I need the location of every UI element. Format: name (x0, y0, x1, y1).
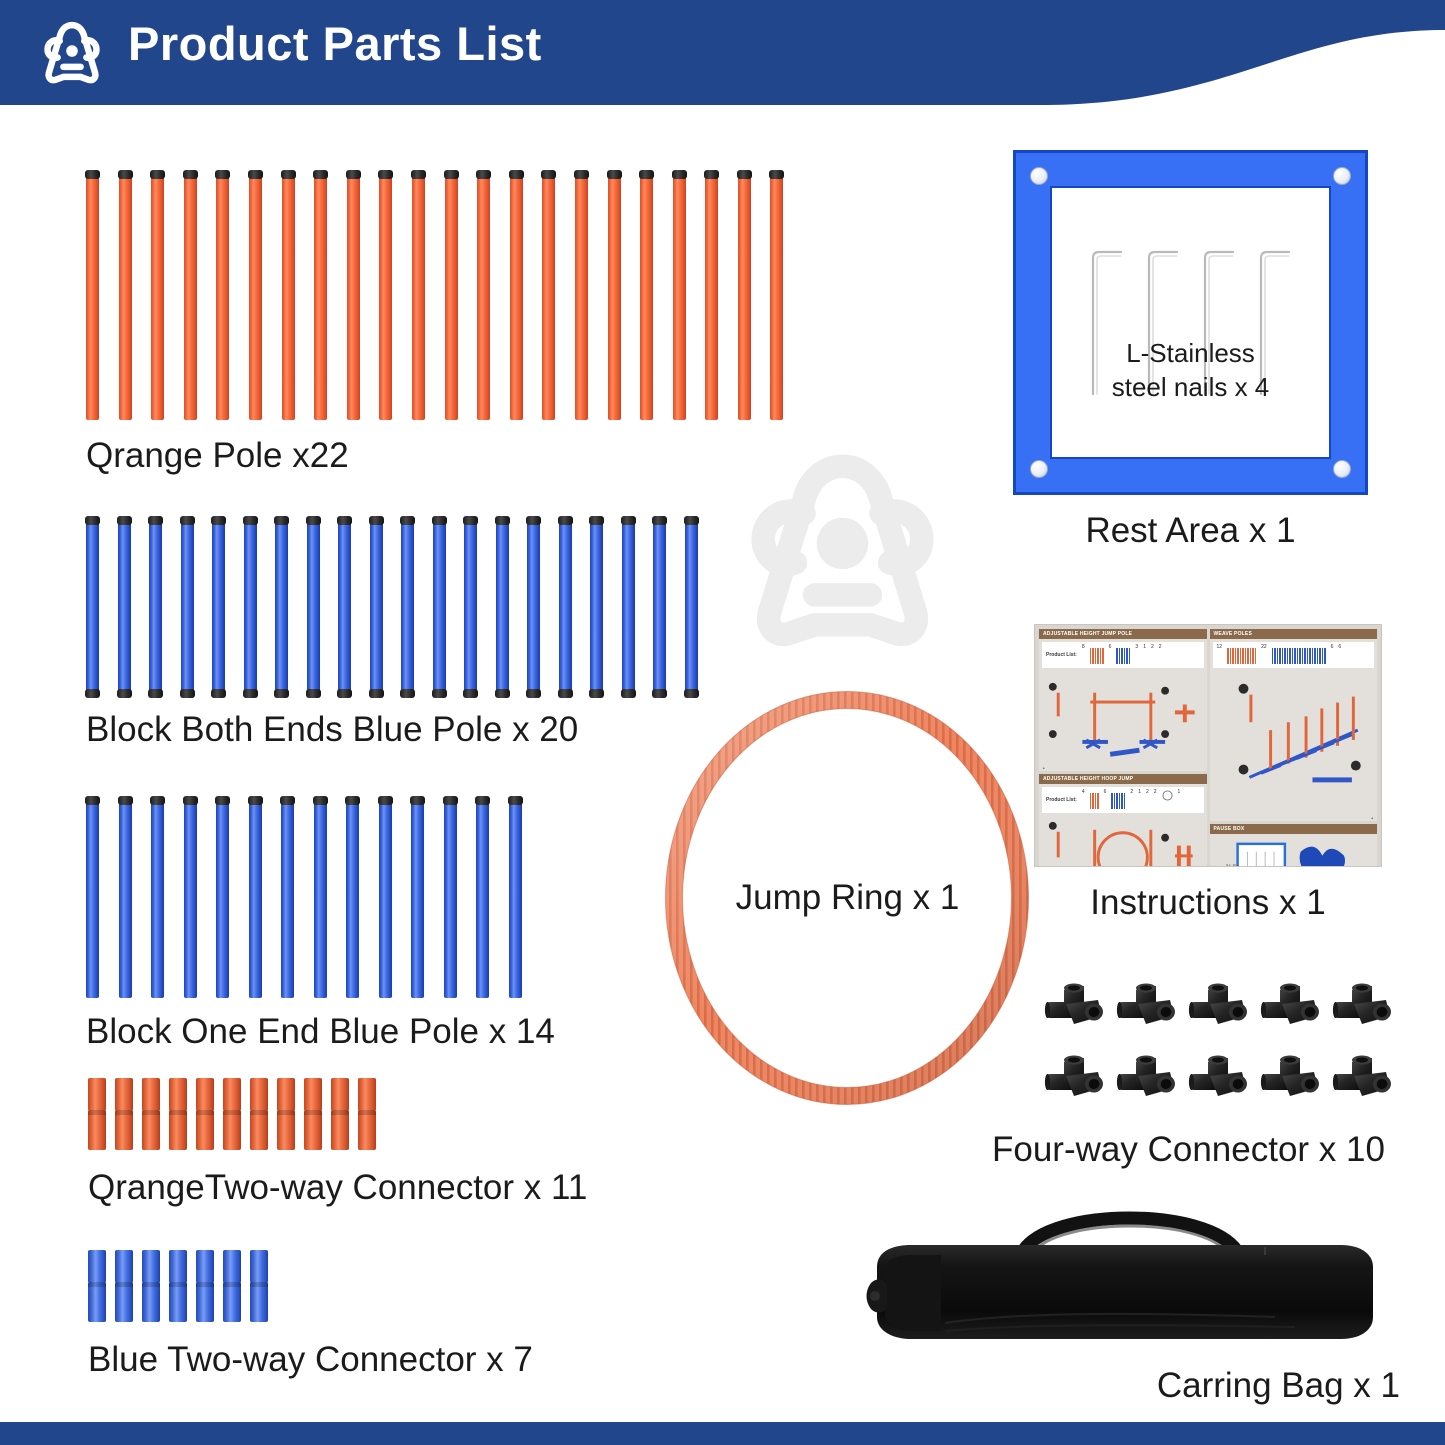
instruction-sheet: ADJUSTABLE HEIGHT JUMP POLE Product List… (1034, 624, 1382, 867)
pole-body (476, 798, 489, 998)
pole-cap-top (378, 170, 393, 179)
pole-body (575, 172, 588, 420)
pole-body (608, 172, 621, 420)
blue-two-way-connector-item (169, 1250, 187, 1322)
pole-cap-top (589, 516, 604, 525)
pole-cap-top (444, 170, 459, 179)
connector-seg-bot (169, 1287, 187, 1322)
sheet-footer-logo-1: ▲ (1042, 766, 1045, 770)
connector-seg-bot (196, 1287, 214, 1322)
pole-body (181, 518, 194, 696)
pole-body (184, 172, 197, 420)
pole-body (622, 518, 635, 696)
product-list-label-1: Product List: (1046, 652, 1077, 658)
pole-cap-top (346, 170, 361, 179)
connector-seg-top (277, 1078, 295, 1111)
connector-seg-top (115, 1250, 133, 1283)
pole-body (590, 518, 603, 696)
block-both-ends-blue-pole-item (244, 518, 257, 696)
pole-cap-bottom (306, 689, 321, 698)
pole-cap-top (150, 170, 165, 179)
mini-blue-bundle-3 (1272, 646, 1326, 664)
mini-blue-bundle-2 (1111, 791, 1125, 809)
part-group-blue-two-way-connector: Blue Two-way Connector x 7 (88, 1250, 533, 1380)
pole-cap-top (621, 516, 636, 525)
pole-cap-bottom (243, 689, 258, 698)
pole-cap-bottom (558, 689, 573, 698)
part-group-orange-two-way-connector: QrangeTwo-way Connector x 11 (88, 1078, 587, 1208)
pole-cap-top (274, 516, 289, 525)
pole-cap-top (769, 170, 784, 179)
pole-cap-top (432, 516, 447, 525)
pole-cap-top (148, 516, 163, 525)
pole-cap-top (211, 516, 226, 525)
connector-seg-top (142, 1250, 160, 1283)
sheet-right-column: WEAVE POLES 12 22 (1210, 629, 1378, 867)
pole-cap-top (306, 516, 321, 525)
orange-pole-item (770, 172, 783, 420)
pole-cap-top (215, 796, 230, 805)
pole-body (249, 798, 262, 998)
part-group-carrying-bag: Carring Bag x 1 (855, 1205, 1400, 1406)
orange-pole-item (705, 172, 718, 420)
part-group-jump-ring: Jump Ring x 1 (655, 688, 1040, 1108)
orange-two-way-connector-item (115, 1078, 133, 1150)
orange-pole-item (575, 172, 588, 420)
pole-cap-bottom (432, 689, 447, 698)
pole-cap-top (215, 170, 230, 179)
pole-body (86, 518, 99, 696)
connector-seg-bot (115, 1287, 133, 1322)
pole-cap-top (509, 170, 524, 179)
four-way-connector-item (1188, 1052, 1250, 1110)
orange-pole-item (412, 172, 425, 420)
mat-inner-panel: L-Stainless steel nails x 4 (1050, 186, 1331, 459)
orange-pole-item (119, 172, 132, 420)
orange-pole-item (738, 172, 751, 420)
mini-orange-bundle-3 (1227, 646, 1256, 664)
blue-two-way-connector-item (115, 1250, 133, 1322)
block-one-end-blue-pole-item (476, 798, 489, 998)
block-one-end-blue-pole-item (184, 798, 197, 998)
block-one-end-blue-pole-item (281, 798, 294, 998)
pole-body (509, 798, 522, 998)
pole-cap-top (369, 516, 384, 525)
four-way-connector-item (1116, 980, 1178, 1038)
page-header: Product Parts List (0, 0, 1445, 105)
pole-body (346, 798, 359, 998)
pole-body (216, 798, 229, 998)
block-both-ends-blue-pole-item (464, 518, 477, 696)
pole-cap-top (652, 516, 667, 525)
connector-seg-top (250, 1250, 268, 1283)
connector-seg-bot (223, 1115, 241, 1150)
orange-pole-item (249, 172, 262, 420)
connector-seg-bot (88, 1115, 106, 1150)
blue-two-way-connector-item (142, 1250, 160, 1322)
part-group-instructions: ADJUSTABLE HEIGHT JUMP POLE Product List… (1034, 624, 1382, 923)
pole-body (527, 518, 540, 696)
orange-pole-item (673, 172, 686, 420)
part-group-four-way-connector: Four-way Connector x 10 (1044, 980, 1394, 1170)
sheet-panel-jump-pole: ADJUSTABLE HEIGHT JUMP POLE Product List… (1039, 629, 1207, 771)
orange-pole-item (86, 172, 99, 420)
hoop-jump-diagram (1039, 816, 1207, 867)
block-one-end-blue-pole-item (216, 798, 229, 998)
pole-body (738, 172, 751, 420)
orange-two-way-connector-item (196, 1078, 214, 1150)
part-group-block-both-ends-blue-pole: Block Both Ends Blue Pole x 20 (86, 518, 698, 750)
connector-seg-top (169, 1078, 187, 1111)
qty-1-1: 8 (1082, 644, 1085, 650)
qty-2-4: 1 (1138, 789, 1141, 795)
pole-cap-top (737, 170, 752, 179)
pole-cap-top (411, 170, 426, 179)
qty-3-3: 6 (1331, 644, 1334, 650)
connector-seg-bot (142, 1115, 160, 1150)
pole-body (496, 518, 509, 696)
mat-inner-caption: L-Stainless steel nails x 4 (1052, 337, 1329, 405)
block-both-ends-blue-pole-item (275, 518, 288, 696)
rest-area-mat: L-Stainless steel nails x 4 (1013, 150, 1368, 495)
connector-seg-bot (169, 1115, 187, 1150)
orange-pole-item (347, 172, 360, 420)
pole-body (379, 172, 392, 420)
block-both-ends-blue-pole-item (86, 518, 99, 696)
connector-seg-bot (358, 1115, 376, 1150)
panel-diagram-weave-poles (1210, 671, 1378, 802)
product-list-label-2: Product List: (1046, 797, 1077, 803)
footer-bar (0, 1422, 1445, 1445)
pole-cap-bottom (463, 689, 478, 698)
pole-cap-top (313, 796, 328, 805)
carrying-bag-label: Carring Bag x 1 (855, 1366, 1400, 1406)
svg-text:31.5in: 31.5in (1225, 863, 1239, 867)
pole-cap-bottom (337, 689, 352, 698)
four-way-connector-item (1188, 980, 1250, 1038)
pole-body (216, 172, 229, 420)
pole-body (433, 518, 446, 696)
pole-cap-top (243, 516, 258, 525)
block-both-ends-blue-pole-item (653, 518, 666, 696)
block-one-end-blue-pole-item (151, 798, 164, 998)
orange-two-way-connector-item (277, 1078, 295, 1150)
sheet-left-column: ADJUSTABLE HEIGHT JUMP POLE Product List… (1039, 629, 1207, 867)
part-group-orange-pole: Qrange Pole x22 (86, 172, 783, 476)
orange-pole-label: Qrange Pole x22 (86, 436, 783, 476)
pole-cap-top (639, 170, 654, 179)
connector-seg-top (304, 1078, 322, 1111)
connector-seg-top (223, 1250, 241, 1283)
orange-pole-row (86, 172, 783, 420)
block-both-ends-blue-pole-item (559, 518, 572, 696)
block-both-ends-blue-pole-item (307, 518, 320, 696)
connector-seg-top (169, 1250, 187, 1283)
blue-two-way-connector-item (223, 1250, 241, 1322)
mini-hoop-icon (1162, 790, 1173, 801)
connector-seg-bot (250, 1115, 268, 1150)
pole-cap-top (150, 796, 165, 805)
qty-2-6: 2 (1154, 789, 1157, 795)
pole-body (653, 518, 666, 696)
sheet-panel-hoop-jump: ADJUSTABLE HEIGHT HOOP JUMP Product List… (1039, 774, 1207, 867)
connector-seg-bot (304, 1115, 322, 1150)
block-one-end-blue-pole-item (444, 798, 457, 998)
mini-blue-bundle-1 (1116, 646, 1130, 664)
part-group-rest-area: L-Stainless steel nails x 4 Rest Area x … (1013, 150, 1368, 551)
pole-cap-top (337, 516, 352, 525)
block-one-end-blue-pole-item (119, 798, 132, 998)
connector-seg-bot (115, 1115, 133, 1150)
four-way-connector-item (1332, 980, 1394, 1038)
pole-body (314, 798, 327, 998)
orange-two-way-connector-row (88, 1078, 587, 1150)
orange-two-way-connector-item (169, 1078, 187, 1150)
four-way-connector-item (1260, 980, 1322, 1038)
block-both-ends-blue-pole-row (86, 518, 698, 696)
pole-cap-top (541, 170, 556, 179)
connector-seg-top (223, 1078, 241, 1111)
pole-cap-top (248, 796, 263, 805)
pole-body (118, 518, 131, 696)
mini-orange-bundle-1 (1090, 646, 1104, 664)
pole-cap-top (183, 170, 198, 179)
orange-pole-item (542, 172, 555, 420)
pole-body (119, 172, 132, 420)
connector-seg-top (142, 1078, 160, 1111)
orange-pole-item (608, 172, 621, 420)
block-both-ends-blue-pole-item (622, 518, 635, 696)
connector-seg-top (331, 1078, 349, 1111)
pole-cap-top (508, 796, 523, 805)
pause-box-diagram: 31.5in 31.5in (1210, 834, 1378, 867)
panel-diagram-hoop-jump (1039, 816, 1207, 867)
pole-cap-top (118, 796, 133, 805)
orange-pole-item (445, 172, 458, 420)
four-way-connector-item (1116, 1052, 1178, 1110)
carrying-bag-icon (855, 1205, 1400, 1355)
pole-cap-top (526, 516, 541, 525)
pole-body (338, 518, 351, 696)
connector-seg-top (115, 1078, 133, 1111)
pole-cap-top (85, 516, 100, 525)
pole-cap-top (475, 796, 490, 805)
panel-product-list-hoop-jump: Product List: 4 6 2 1 2 2 (1042, 787, 1204, 813)
block-both-ends-blue-pole-item (149, 518, 162, 696)
four-way-connector-item (1332, 1052, 1394, 1110)
block-both-ends-blue-pole-item (118, 518, 131, 696)
qty-3-4: 6 (1338, 644, 1341, 650)
pole-body (705, 172, 718, 420)
pole-body (401, 518, 414, 696)
part-group-block-one-end-blue-pole: Block One End Blue Pole x 14 (86, 798, 555, 1052)
block-one-end-blue-pole-item (379, 798, 392, 998)
block-one-end-blue-pole-item (314, 798, 327, 998)
pole-cap-top (495, 516, 510, 525)
pole-cap-bottom (180, 689, 195, 698)
qty-1-4: 1 (1143, 644, 1146, 650)
block-both-ends-blue-pole-item (527, 518, 540, 696)
connector-seg-bot (331, 1115, 349, 1150)
pole-body (244, 518, 257, 696)
nails-caption-line2: steel nails x 4 (1052, 371, 1329, 405)
pole-cap-bottom (211, 689, 226, 698)
pole-body (411, 798, 424, 998)
mini-orange-bundle-2 (1090, 791, 1099, 809)
block-both-ends-blue-pole-item (496, 518, 509, 696)
pole-cap-bottom (117, 689, 132, 698)
block-one-end-blue-pole-item (86, 798, 99, 998)
pole-body (559, 518, 572, 696)
mat-grommet-bottom-right (1333, 460, 1351, 478)
panel-title-pause-box: PAUSE BOX (1210, 824, 1378, 834)
instructions-label: Instructions x 1 (1034, 883, 1382, 923)
pole-body (464, 518, 477, 696)
qty-2-1: 4 (1082, 789, 1085, 795)
block-one-end-blue-pole-item (509, 798, 522, 998)
block-both-ends-blue-pole-item (401, 518, 414, 696)
page-title: Product Parts List (128, 16, 542, 71)
pole-cap-bottom (274, 689, 289, 698)
orange-two-way-connector-item (223, 1078, 241, 1150)
pole-cap-top (85, 170, 100, 179)
connector-seg-top (196, 1078, 214, 1111)
pole-cap-bottom (621, 689, 636, 698)
block-both-ends-blue-pole-item (590, 518, 603, 696)
pole-cap-top (378, 796, 393, 805)
pole-body (347, 172, 360, 420)
orange-pole-item (379, 172, 392, 420)
orange-two-way-connector-item (250, 1078, 268, 1150)
qty-1-2: 6 (1109, 644, 1112, 650)
connector-seg-top (88, 1078, 106, 1111)
pole-cap-top (443, 796, 458, 805)
pole-cap-top (672, 170, 687, 179)
pole-body (640, 172, 653, 420)
pole-cap-bottom (495, 689, 510, 698)
orange-two-way-connector-label: QrangeTwo-way Connector x 11 (88, 1168, 587, 1208)
pole-body (151, 798, 164, 998)
panel-product-list-jump-pole: Product List: 8 6 3 1 2 2 (1042, 642, 1204, 668)
blue-two-way-connector-item (250, 1250, 268, 1322)
pole-body (282, 172, 295, 420)
connector-seg-bot (196, 1115, 214, 1150)
pole-cap-top (117, 516, 132, 525)
pole-body (307, 518, 320, 696)
panel-title-hoop-jump: ADJUSTABLE HEIGHT HOOP JUMP (1039, 774, 1207, 784)
blue-two-way-connector-item (196, 1250, 214, 1322)
block-both-ends-blue-pole-label: Block Both Ends Blue Pole x 20 (86, 710, 698, 750)
qty-2-3: 2 (1130, 789, 1133, 795)
pole-body (151, 172, 164, 420)
orange-two-way-connector-item (304, 1078, 322, 1150)
blue-two-way-connector-label: Blue Two-way Connector x 7 (88, 1340, 533, 1380)
four-way-connector-item (1260, 1052, 1322, 1110)
orange-pole-item (216, 172, 229, 420)
pole-cap-bottom (589, 689, 604, 698)
pole-body (86, 798, 99, 998)
orange-pole-item (184, 172, 197, 420)
block-one-end-blue-pole-item (346, 798, 359, 998)
pole-body (379, 798, 392, 998)
pole-cap-bottom (526, 689, 541, 698)
rocket-a-logo-icon (36, 14, 108, 88)
four-way-connector-label: Four-way Connector x 10 (992, 1130, 1342, 1170)
connector-seg-top (196, 1250, 214, 1283)
block-one-end-blue-pole-row (86, 798, 555, 998)
block-both-ends-blue-pole-item (370, 518, 383, 696)
connector-seg-top (250, 1078, 268, 1111)
pole-cap-top (400, 516, 415, 525)
connector-seg-bot (277, 1115, 295, 1150)
mat-grommet-top-left (1030, 167, 1048, 185)
qty-1-6: 2 (1159, 644, 1162, 650)
pole-cap-top (410, 796, 425, 805)
block-one-end-blue-pole-label: Block One End Blue Pole x 14 (86, 1012, 555, 1052)
pole-body (119, 798, 132, 998)
jump-ring-label: Jump Ring x 1 (655, 878, 1040, 918)
connector-seg-bot (250, 1287, 268, 1322)
pole-cap-top (280, 796, 295, 805)
pole-body (370, 518, 383, 696)
pole-cap-top (684, 516, 699, 525)
connector-seg-bot (142, 1287, 160, 1322)
panel-product-list-weave-poles: 12 22 (1213, 642, 1375, 668)
four-way-connector-item (1044, 1052, 1106, 1110)
pole-cap-top (558, 516, 573, 525)
pole-body (249, 172, 262, 420)
block-both-ends-blue-pole-item (181, 518, 194, 696)
pole-cap-top (476, 170, 491, 179)
blue-two-way-connector-item (88, 1250, 106, 1322)
pole-cap-top (574, 170, 589, 179)
pole-cap-top (345, 796, 360, 805)
qty-2-5: 2 (1146, 789, 1149, 795)
pole-body (314, 172, 327, 420)
qty-1-3: 3 (1135, 644, 1138, 650)
pole-cap-top (313, 170, 328, 179)
qty-3-1: 12 (1217, 644, 1223, 650)
panel-title-jump-pole: ADJUSTABLE HEIGHT JUMP POLE (1039, 629, 1207, 639)
orange-two-way-connector-item (331, 1078, 349, 1150)
pole-cap-top (118, 170, 133, 179)
pole-cap-top (248, 170, 263, 179)
pole-cap-top (607, 170, 622, 179)
pole-body (444, 798, 457, 998)
pole-body (86, 172, 99, 420)
sheet-panel-weave-poles: WEAVE POLES 12 22 (1210, 629, 1378, 821)
orange-pole-item (314, 172, 327, 420)
connector-seg-top (358, 1078, 376, 1111)
pole-cap-bottom (400, 689, 415, 698)
sheet-panel-pause-box: PAUSE BOX 31.5in 31.5in ▲ (1210, 824, 1378, 867)
pole-cap-top (183, 796, 198, 805)
nails-caption-line1: L-Stainless (1052, 337, 1329, 371)
pole-body (445, 172, 458, 420)
pole-cap-bottom (85, 689, 100, 698)
four-way-connector-grid (1044, 980, 1394, 1110)
pole-body (477, 172, 490, 420)
pole-body (412, 172, 425, 420)
pole-cap-top (180, 516, 195, 525)
qty-2-2: 6 (1104, 789, 1107, 795)
weave-poles-diagram (1210, 671, 1378, 797)
pole-body (510, 172, 523, 420)
sheet-footer-logo-3: ▲ (1371, 816, 1374, 820)
orange-pole-item (640, 172, 653, 420)
pole-body (275, 518, 288, 696)
four-way-connector-item (1044, 980, 1106, 1038)
